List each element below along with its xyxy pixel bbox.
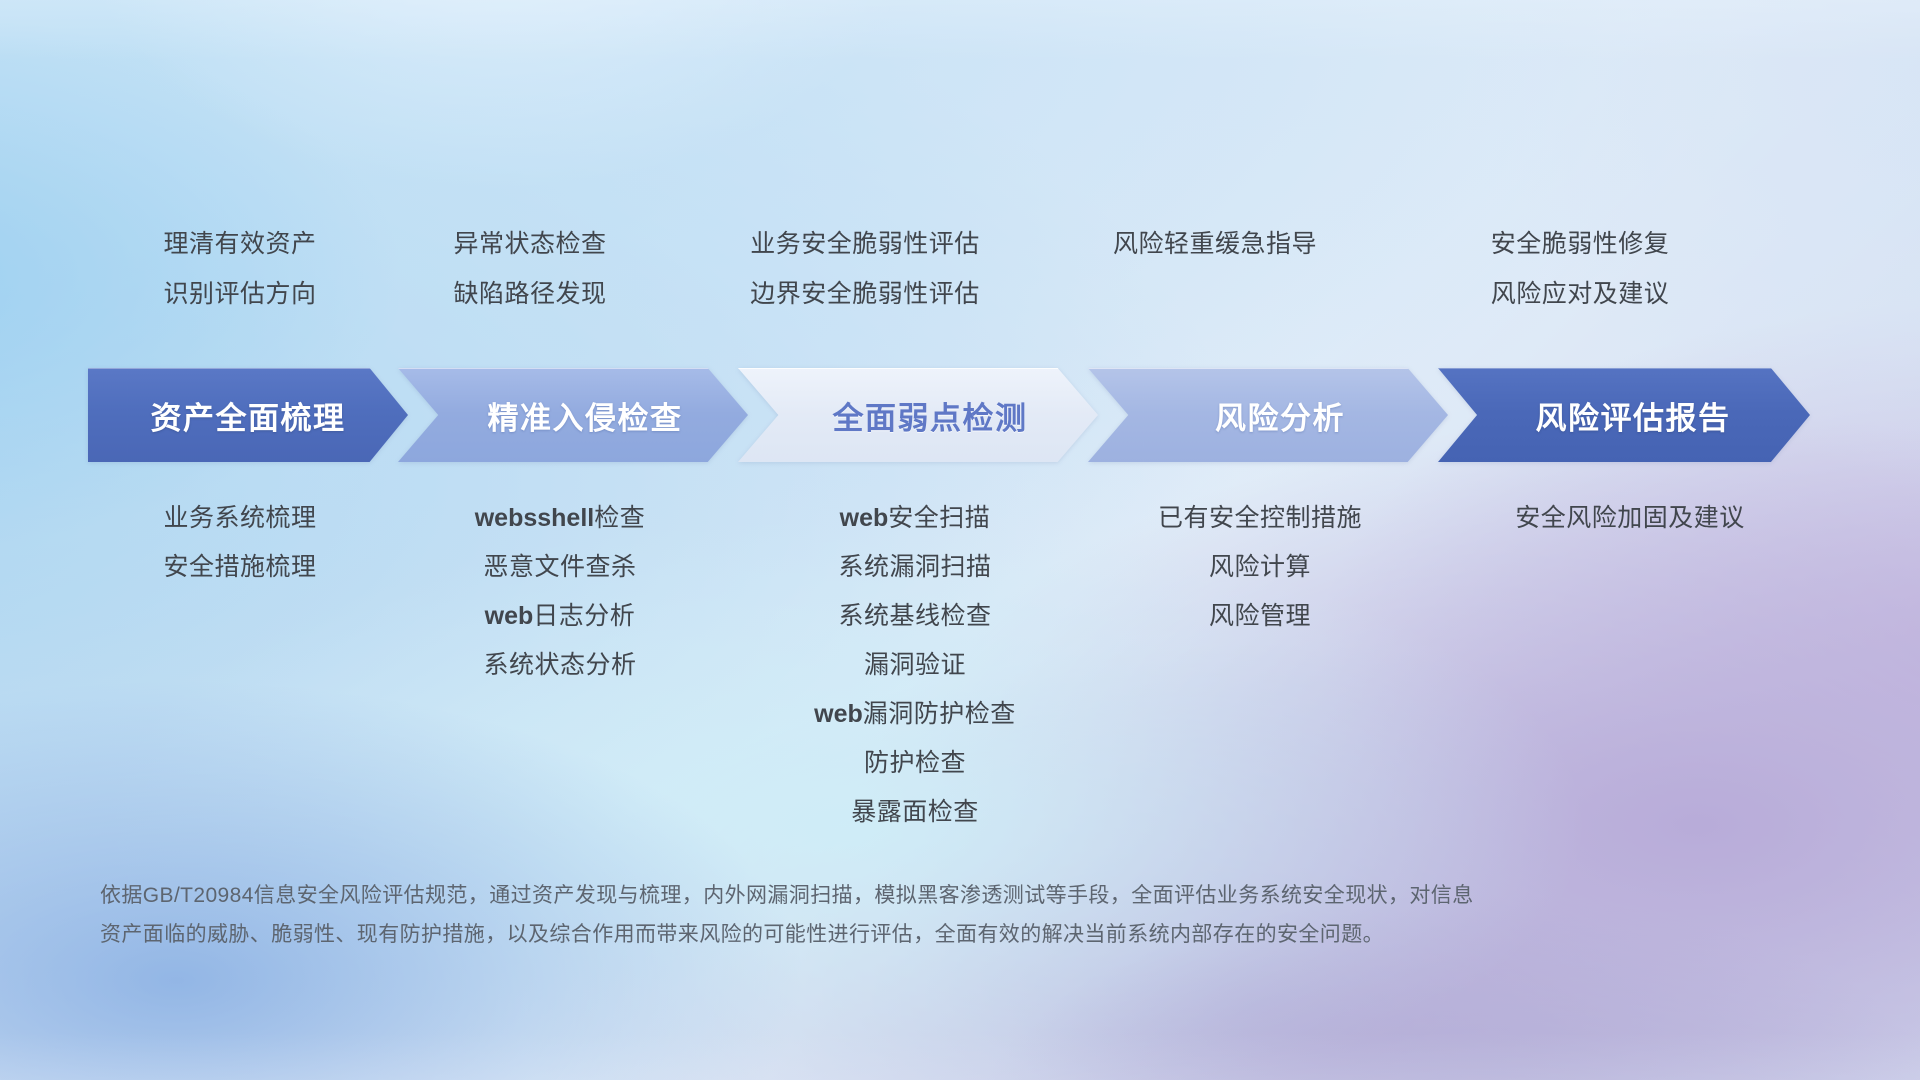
top-label: 边界安全脆弱性评估: [750, 282, 980, 307]
bottom-label-suffix: 安全扫描: [888, 504, 990, 532]
bottom-label: websshell检查: [475, 506, 646, 531]
bottom-label: 业务系统梳理: [163, 506, 316, 531]
chevron-step-4[interactable]: 风险分析: [1088, 368, 1448, 462]
bottom-label: 系统状态分析: [483, 653, 636, 678]
top-label: 安全脆弱性修复: [1491, 232, 1670, 257]
top-label: 理清有效资产: [163, 232, 316, 257]
bottom-label: 安全措施梳理: [163, 555, 316, 580]
top-column-3: 业务安全脆弱性评估 边界安全脆弱性评估: [690, 232, 1040, 332]
bottom-label: 恶意文件查杀: [483, 555, 636, 580]
top-label: 缺陷路径发现: [453, 282, 606, 307]
bottom-label: 风险计算: [1209, 555, 1311, 580]
bottom-column-3: web安全扫描 系统漏洞扫描 系统基线检查 漏洞验证 web漏洞防护检查 防护检…: [755, 506, 1075, 849]
top-label: 识别评估方向: [163, 282, 316, 307]
top-label: 风险轻重缓急指导: [1113, 232, 1317, 257]
top-column-5: 安全脆弱性修复 风险应对及建议: [1420, 232, 1740, 332]
chevron-label: 全面弱点检测: [833, 393, 1028, 438]
bottom-label: 已有安全控制措施: [1158, 506, 1362, 531]
bottom-column-5: 安全风险加固及建议: [1440, 506, 1820, 555]
top-label: 风险应对及建议: [1491, 282, 1670, 307]
footer-description: 依据GB/T20984信息安全风险评估规范，通过资产发现与梳理，内外网漏洞扫描，…: [100, 876, 1740, 954]
chevron-step-5[interactable]: 风险评估报告: [1438, 368, 1810, 462]
bottom-label: 系统基线检查: [838, 604, 991, 629]
bottom-label: 暴露面检查: [851, 800, 979, 825]
bottom-label: 系统漏洞扫描: [838, 555, 991, 580]
bottom-label: 漏洞验证: [864, 653, 966, 678]
chevron-step-2[interactable]: 精准入侵检查: [398, 368, 748, 462]
chevron-label: 风险分析: [1215, 393, 1345, 438]
top-column-4: 风险轻重缓急指导: [1055, 232, 1375, 282]
bottom-label: 防护检查: [864, 751, 966, 776]
top-label: 异常状态检查: [453, 232, 606, 257]
bottom-column-4: 已有安全控制措施 风险计算 风险管理: [1100, 506, 1420, 653]
footer-line-2: 资产面临的威胁、脆弱性、现有防护措施，以及综合作用而带来风险的可能性进行评估，全…: [100, 915, 1740, 954]
chevron-step-3[interactable]: 全面弱点检测: [738, 368, 1098, 462]
bottom-label-suffix: 日志分析: [533, 602, 635, 630]
process-chevron-band: 资产全面梳理 精准入侵检查 全面弱点检测 风险分析 风险评估报告: [0, 368, 1920, 462]
chevron-label: 资产全面梳理: [151, 393, 346, 438]
chevron-step-1[interactable]: 资产全面梳理: [88, 368, 408, 462]
bottom-column-2: websshell检查 恶意文件查杀 web日志分析 系统状态分析: [420, 506, 700, 702]
bottom-label: 安全风险加固及建议: [1515, 506, 1745, 531]
bottom-label: 风险管理: [1209, 604, 1311, 629]
bottom-label-suffix: 检查: [594, 504, 645, 532]
bottom-column-1: 业务系统梳理 安全措施梳理: [100, 506, 380, 604]
bottom-label: web日志分析: [485, 604, 636, 629]
top-column-2: 异常状态检查 缺陷路径发现: [390, 232, 670, 332]
top-label: 业务安全脆弱性评估: [750, 232, 980, 257]
chevron-label: 精准入侵检查: [488, 393, 683, 438]
footer-line-1: 依据GB/T20984信息安全风险评估规范，通过资产发现与梳理，内外网漏洞扫描，…: [100, 876, 1740, 915]
chevron-label: 风险评估报告: [1536, 393, 1731, 438]
bottom-label-suffix: 漏洞防护检查: [863, 700, 1016, 728]
bottom-label: web安全扫描: [840, 506, 991, 531]
top-column-1: 理清有效资产 识别评估方向: [100, 232, 380, 332]
bottom-label: web漏洞防护检查: [814, 702, 1016, 727]
